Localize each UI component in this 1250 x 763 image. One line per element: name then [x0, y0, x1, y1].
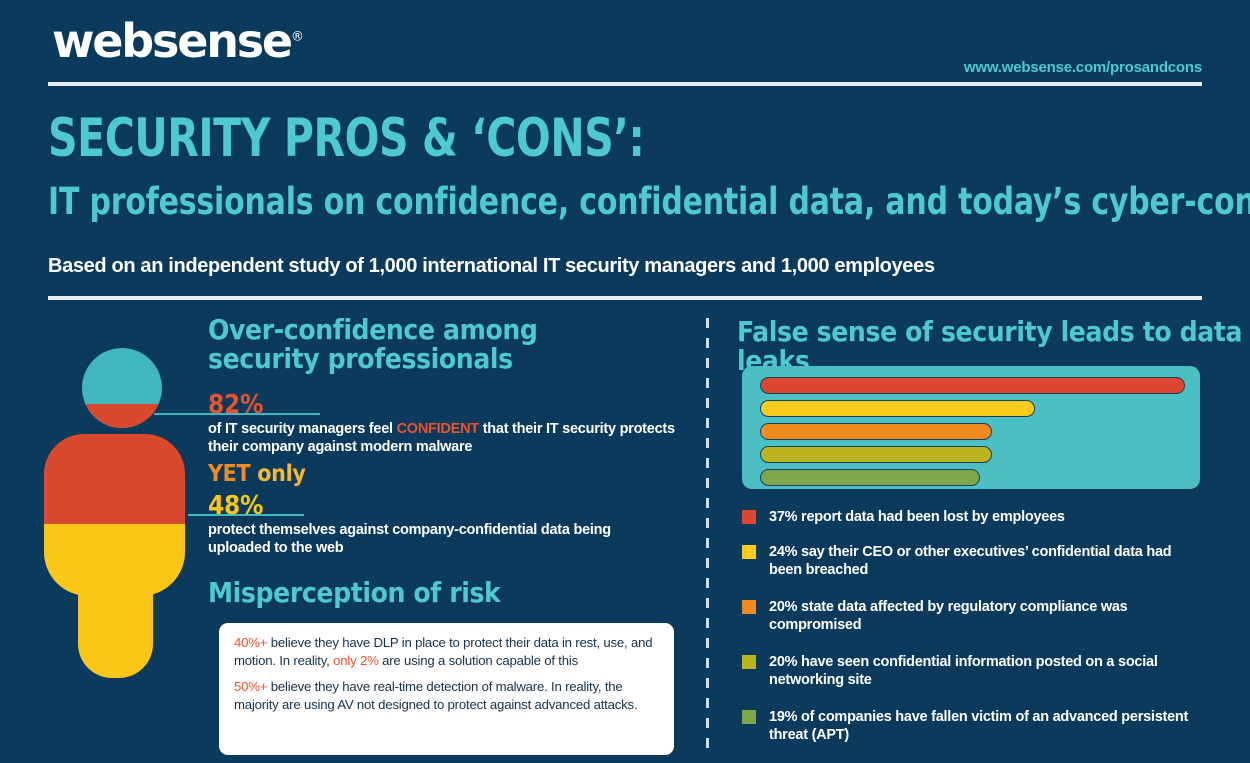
- overconfidence-heading-line2: security professionals: [208, 345, 538, 374]
- legend-item: 20% have seen confidential information p…: [742, 653, 1192, 689]
- overconfidence-heading-line1: Over-confidence among: [208, 316, 538, 345]
- yet-only-label: YET only: [208, 461, 306, 487]
- legend-label: 19% of companies have fallen victim of a…: [769, 708, 1192, 744]
- bar-chart-panel: [742, 366, 1200, 489]
- legend-item: 19% of companies have fallen victim of a…: [742, 708, 1192, 744]
- stat-82-accent-word: CONFIDENT: [397, 421, 479, 437]
- legend-label: 20% state data affected by regulatory co…: [769, 598, 1192, 634]
- only-word: only: [257, 461, 305, 487]
- bar-row: [760, 377, 1185, 394]
- legend-label: 20% have seen confidential information p…: [769, 653, 1192, 689]
- page-title: SECURITY PROS & ‘CONS’:: [48, 108, 644, 169]
- bar-row: [760, 469, 980, 486]
- bar-row: [760, 400, 1035, 417]
- stat-48-description: protect themselves against company-confi…: [208, 522, 673, 557]
- stat-48-percent: 48%: [208, 491, 263, 521]
- person-torso-red: [44, 434, 185, 524]
- misperception-para-1: 40%+ believe they have DLP in place to p…: [234, 634, 659, 669]
- card-pct-only-2: only 2%: [333, 653, 379, 668]
- legend-item: 37% report data had been lost by employe…: [742, 508, 1192, 526]
- registered-trademark-icon: ®: [291, 30, 304, 45]
- stat-82-percent: 82%: [208, 390, 263, 420]
- misperception-para-2: 50%+ believe they have real-time detecti…: [234, 678, 659, 713]
- infographic-page: websense® www.websense.com/prosandcons S…: [0, 0, 1250, 763]
- study-basis-text: Based on an independent study of 1,000 i…: [48, 255, 935, 278]
- stat-82-description: of IT security managers feel CONFIDENT t…: [208, 421, 678, 456]
- section-divider-rule: [48, 296, 1202, 300]
- misperception-heading: Misperception of risk: [208, 579, 500, 608]
- website-url-link[interactable]: www.websense.com/prosandcons: [964, 59, 1202, 76]
- logo-wordmark: websense: [52, 14, 291, 68]
- legend-swatch-green: [742, 710, 756, 724]
- person-figure-illustration: [44, 348, 190, 678]
- legend-label: 37% report data had been lost by employe…: [769, 508, 1065, 526]
- legend-item: 20% state data affected by regulatory co…: [742, 598, 1192, 634]
- vertical-dashed-divider: [706, 318, 709, 758]
- legend-swatch-olive: [742, 655, 756, 669]
- legend-swatch-red: [742, 510, 756, 524]
- card-pct-40: 40%+: [234, 635, 267, 650]
- overconfidence-heading: Over-confidence among security professio…: [208, 316, 538, 373]
- bar-row: [760, 423, 992, 440]
- bar-row: [760, 446, 992, 463]
- page-subtitle: IT professionals on confidence, confiden…: [48, 180, 1250, 223]
- yet-word: YET: [208, 461, 250, 487]
- websense-logo: websense®: [52, 14, 304, 68]
- legend-label: 24% say their CEO or other executives’ c…: [769, 543, 1192, 579]
- card-para2-text: believe they have real-time detection of…: [234, 679, 637, 712]
- legend-swatch-yellow: [742, 545, 756, 559]
- legend-swatch-orange: [742, 600, 756, 614]
- person-legs-yellow: [78, 568, 153, 678]
- card-pct-50: 50%+: [234, 679, 267, 694]
- header-divider-rule: [48, 82, 1202, 86]
- misperception-card: 40%+ believe they have DLP in place to p…: [219, 623, 674, 755]
- stat-82-text-before: of IT security managers feel: [208, 421, 397, 437]
- card-para1-text-b: are using a solution capable of this: [379, 653, 578, 668]
- legend-item: 24% say their CEO or other executives’ c…: [742, 543, 1192, 579]
